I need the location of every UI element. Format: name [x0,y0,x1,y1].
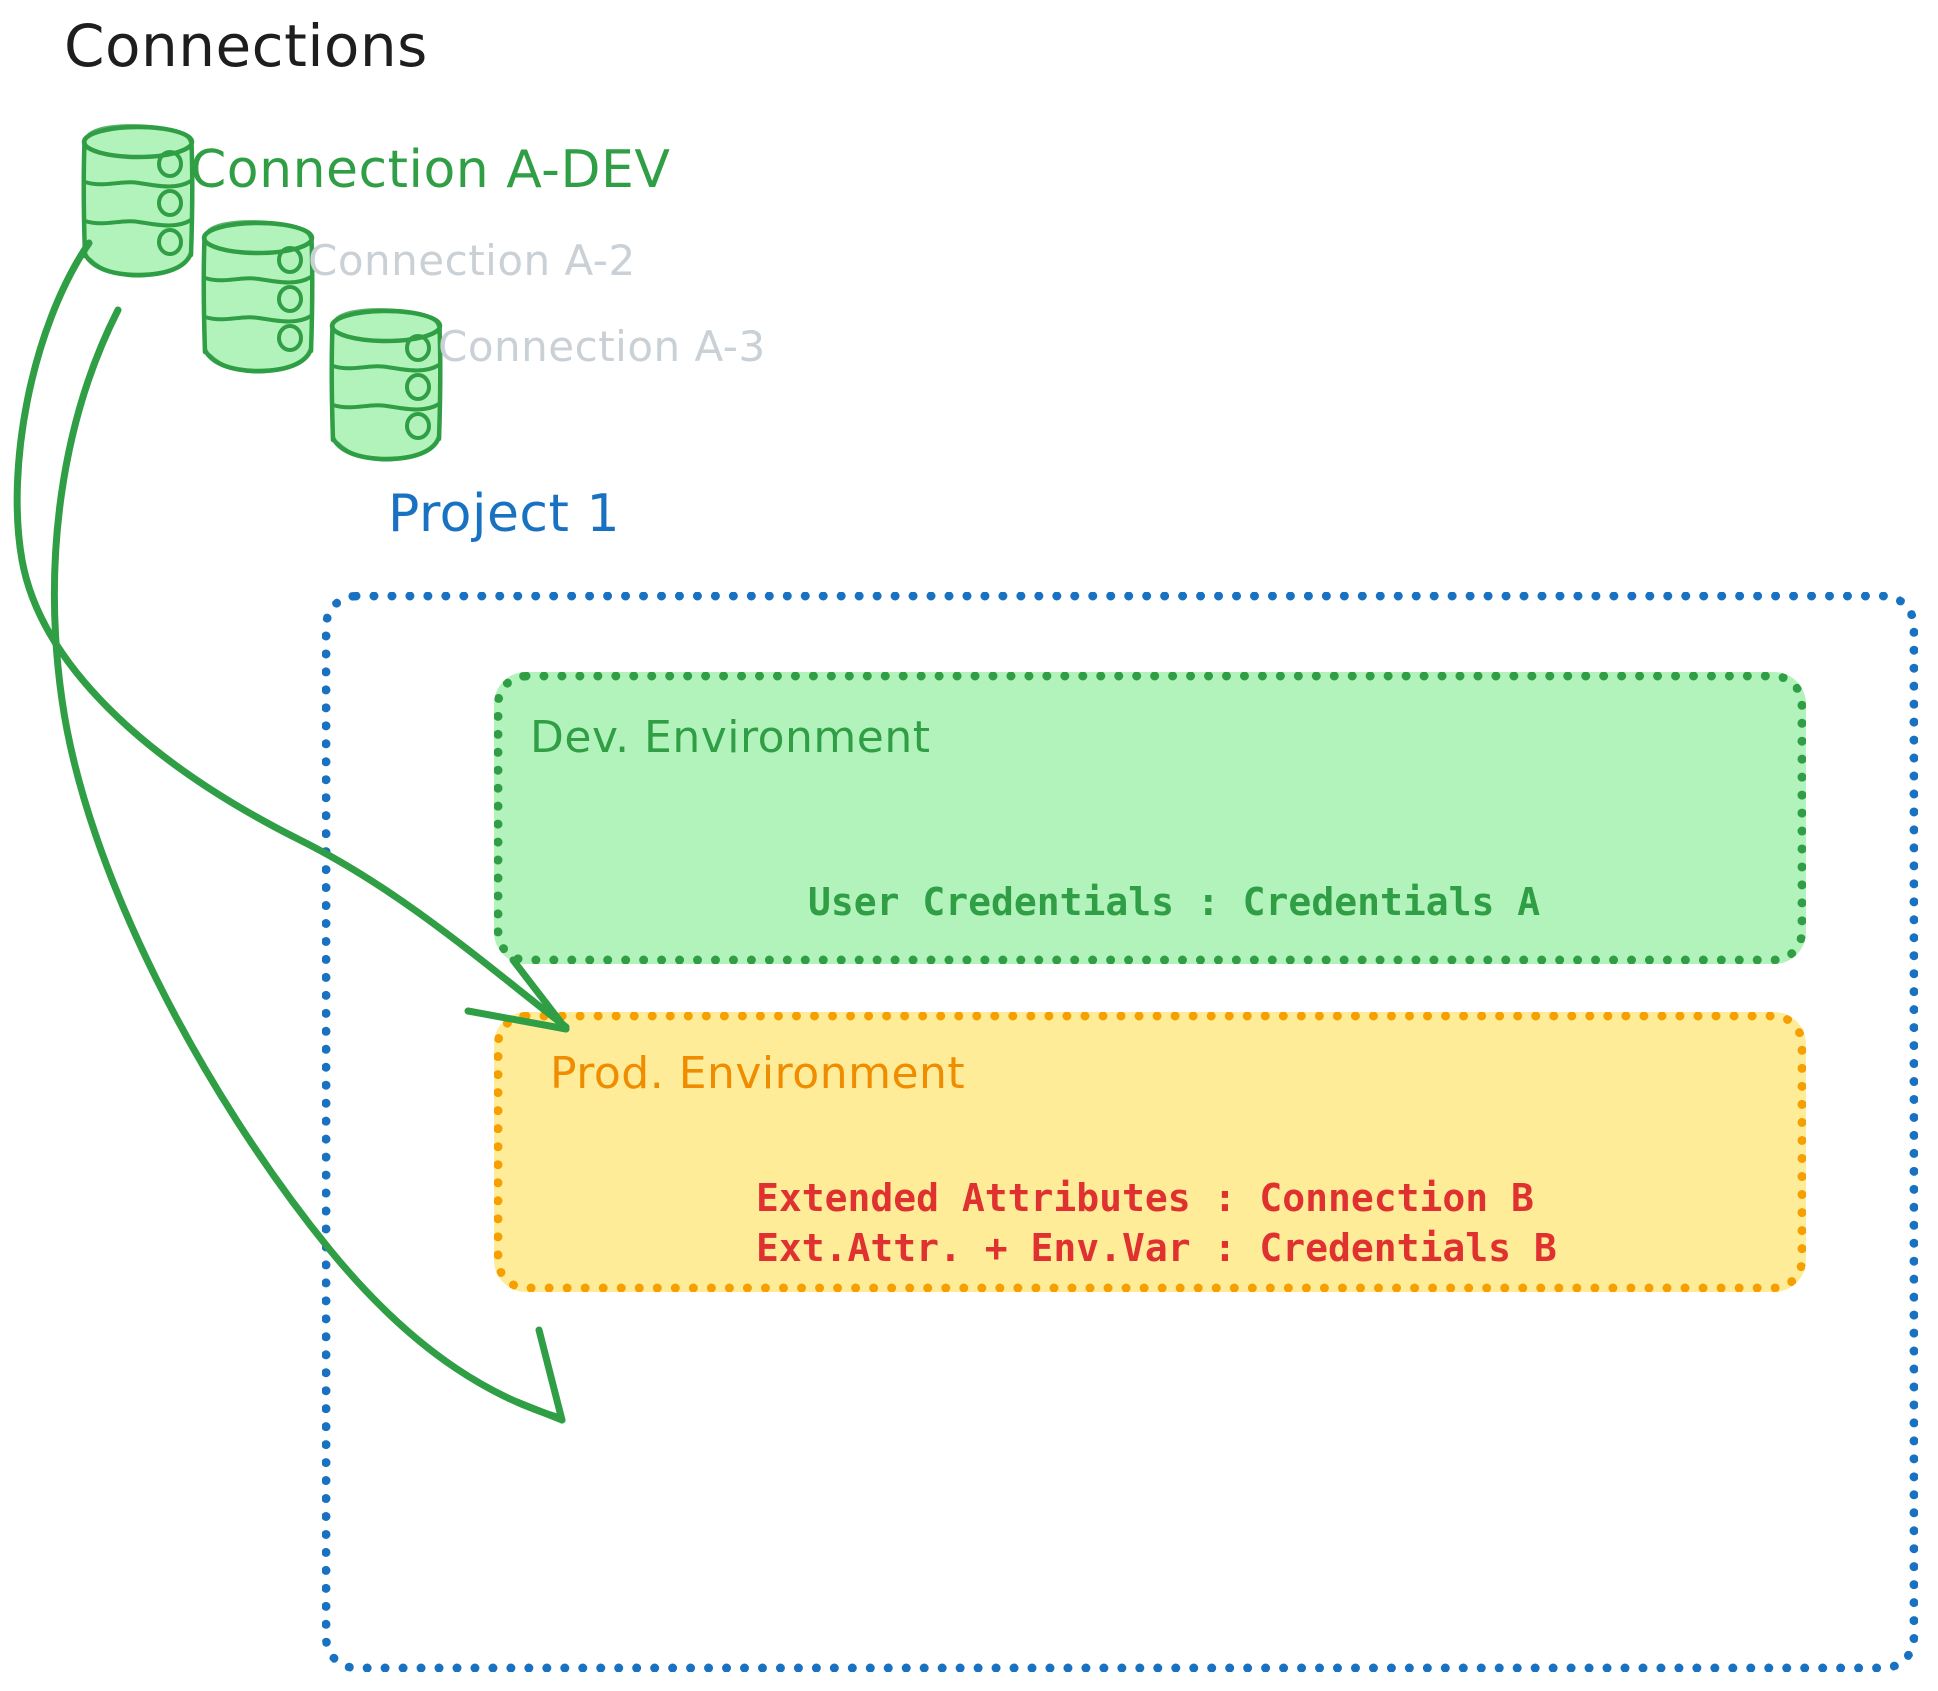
diagram-canvas: Connections Connection A-DEV Connection … [0,0,1938,1691]
database-icon-connection-a-2[interactable] [204,222,313,372]
database-icon-connection-a-dev[interactable] [84,126,193,276]
project-title: Project 1 [388,484,620,544]
connection-label-a-2: Connection A-2 [308,236,636,285]
dev-user-credentials-row: User Credentials : Credentials A [808,880,1540,924]
connection-label-a-dev: Connection A-DEV [190,140,670,200]
prod-environment-title: Prod. Environment [550,1048,965,1099]
prod-extended-attributes-row: Extended Attributes : Connection B [756,1176,1534,1220]
dev-environment-title: Dev. Environment [530,712,931,763]
connection-label-a-3: Connection A-3 [438,322,766,371]
prod-ext-attr-env-var-row: Ext.Attr. + Env.Var : Credentials B [756,1226,1557,1270]
database-icon-connection-a-3[interactable] [332,310,441,460]
page-title: Connections [64,12,428,80]
